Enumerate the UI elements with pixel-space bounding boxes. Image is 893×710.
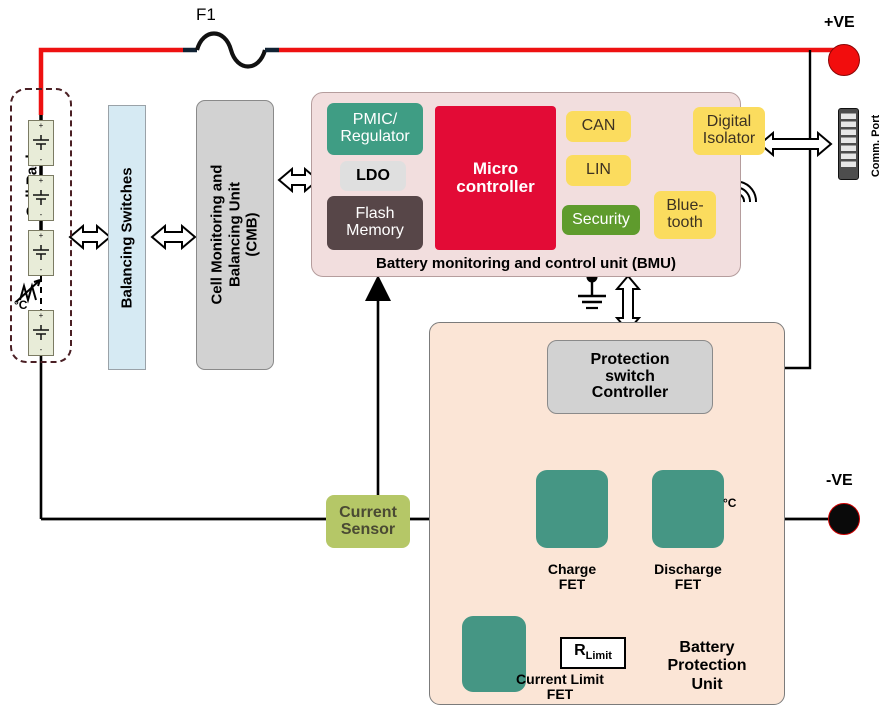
balancing-switches-label: Balancing Switches	[119, 167, 135, 308]
digital-isolator-label-line2: Isolator	[703, 131, 755, 148]
cell-plus-terminal: +	[29, 122, 53, 130]
rlimit-label: RLimit	[574, 643, 612, 663]
discharge-fet-label: Discharge FET	[640, 562, 736, 593]
comm-port-connector[interactable]	[838, 108, 859, 180]
comm-port-pin	[841, 129, 856, 135]
comm-port-pin	[841, 137, 856, 143]
charge-fet-block[interactable]	[536, 470, 608, 548]
negative-terminal-label: -VE	[826, 472, 853, 490]
can-label: CAN	[582, 118, 616, 135]
fuse-label-f1: F1	[196, 5, 216, 25]
charge-fet-label: Charge FET	[526, 562, 618, 593]
cell-minus-terminal: -	[29, 156, 53, 164]
digital-isolator-label-line1: Digital	[707, 114, 751, 131]
bluetooth-label-line2: tooth	[667, 215, 703, 232]
bus-arrow-balancing-to-cmb	[152, 226, 195, 248]
cell-pack-thermistor-label: °C	[14, 298, 27, 312]
current-sensor-block[interactable]: Current Sensor	[326, 495, 410, 548]
cell-plus-terminal: +	[29, 232, 53, 240]
bmu-title: Battery monitoring and control unit (BMU…	[312, 256, 740, 272]
positive-terminal[interactable]	[828, 44, 860, 76]
discharge-fet-block[interactable]	[652, 470, 724, 548]
comm-port-pin	[841, 113, 856, 119]
bpu-title: Battery Protection Unit	[642, 639, 772, 694]
positive-terminal-label: +VE	[824, 14, 855, 32]
battery-cell-2: + -	[28, 175, 54, 221]
battery-cell-1: + -	[28, 120, 54, 166]
balancing-switches-block[interactable]: Balancing Switches	[108, 105, 146, 370]
lin-interface-chip[interactable]: LIN	[566, 155, 631, 186]
current-sensor-label-line1: Current	[339, 505, 397, 522]
pmic-label: PMIC/ Regulator	[340, 112, 409, 146]
ldo-label: LDO	[356, 168, 390, 185]
cell-monitoring-balancing-unit-block[interactable]: Cell Monitoring and Balancing Unit (CMB)	[196, 100, 274, 370]
negative-terminal[interactable]	[828, 503, 860, 535]
bus-arrow-pack-to-balancing	[70, 226, 110, 248]
flash-memory-chip[interactable]: Flash Memory	[327, 196, 423, 250]
ldo-chip[interactable]: LDO	[340, 161, 406, 191]
bms-block-diagram: Cell Pack + - + - + - + - °C F1 Balancin…	[0, 0, 893, 710]
microcontroller-chip[interactable]: Micro controller	[435, 106, 556, 250]
battery-cell-3: + -	[28, 230, 54, 276]
protection-switch-controller-label: Protection switch Controller	[590, 352, 669, 402]
comm-port-pin	[841, 121, 856, 127]
bpu-thermistor-label: °C	[723, 496, 736, 510]
bus-arrow-isolator-to-commport	[760, 133, 831, 155]
current-limit-fet-label: Current Limit FET	[495, 672, 625, 703]
battery-cell-icon	[31, 244, 51, 262]
can-interface-chip[interactable]: CAN	[566, 111, 631, 142]
cell-minus-terminal: -	[29, 211, 53, 219]
digital-isolator-chip[interactable]: Digital Isolator	[693, 107, 765, 155]
microcontroller-label: Micro controller	[456, 160, 534, 196]
security-label: Security	[572, 212, 630, 229]
comm-port-pin	[841, 161, 856, 167]
bluetooth-chip[interactable]: Blue- tooth	[654, 191, 716, 239]
current-sensor-label-line2: Sensor	[341, 522, 395, 539]
cell-plus-terminal: +	[29, 312, 53, 320]
comm-port-pin	[841, 145, 856, 151]
battery-cell-icon	[31, 189, 51, 207]
comm-port-pin	[841, 153, 856, 159]
battery-monitoring-control-unit[interactable]: PMIC/ Regulator LDO Flash Memory Micro c…	[311, 92, 741, 277]
flash-memory-label: Flash Memory	[346, 206, 404, 240]
comm-port-label: Comm. Port	[870, 106, 882, 186]
bluetooth-label-line1: Blue-	[666, 198, 703, 215]
cell-minus-terminal: -	[29, 266, 53, 274]
security-chip[interactable]: Security	[562, 205, 640, 235]
battery-cell-4: + -	[28, 310, 54, 356]
battery-cell-icon	[31, 134, 51, 152]
cell-plus-terminal: +	[29, 177, 53, 185]
cell-minus-terminal: -	[29, 346, 53, 354]
cmb-label: Cell Monitoring and Balancing Unit (CMB)	[208, 165, 261, 305]
lin-label: LIN	[586, 162, 611, 179]
battery-cell-icon	[31, 324, 51, 342]
protection-switch-controller[interactable]: Protection switch Controller	[547, 340, 713, 414]
current-limit-resistor: RLimit	[560, 637, 626, 669]
pmic-regulator-chip[interactable]: PMIC/ Regulator	[327, 103, 423, 155]
